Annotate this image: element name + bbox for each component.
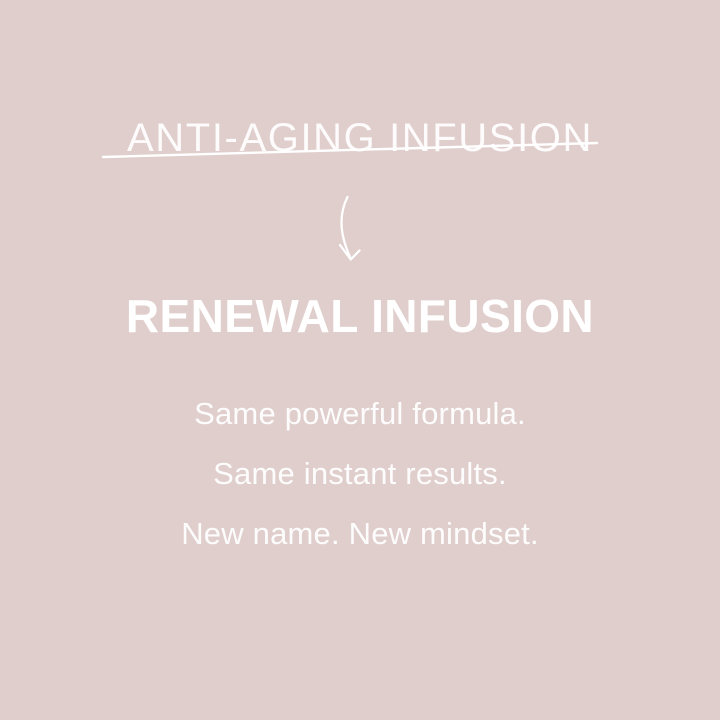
old-product-name: ANTI-AGING INFUSION — [0, 112, 720, 164]
tagline-line-3: New name. New mindset. — [0, 504, 720, 564]
promo-card: ANTI-AGING INFUSION RENEWAL INFUSION Sam… — [0, 0, 720, 720]
tagline-block: Same powerful formula. Same instant resu… — [0, 384, 720, 564]
tagline-line-1: Same powerful formula. — [0, 384, 720, 444]
tagline-line-2: Same instant results. — [0, 444, 720, 504]
new-product-name: RENEWAL INFUSION — [0, 288, 720, 344]
old-product-name-block: ANTI-AGING INFUSION — [0, 112, 720, 182]
curved-down-arrow-icon — [305, 190, 415, 275]
